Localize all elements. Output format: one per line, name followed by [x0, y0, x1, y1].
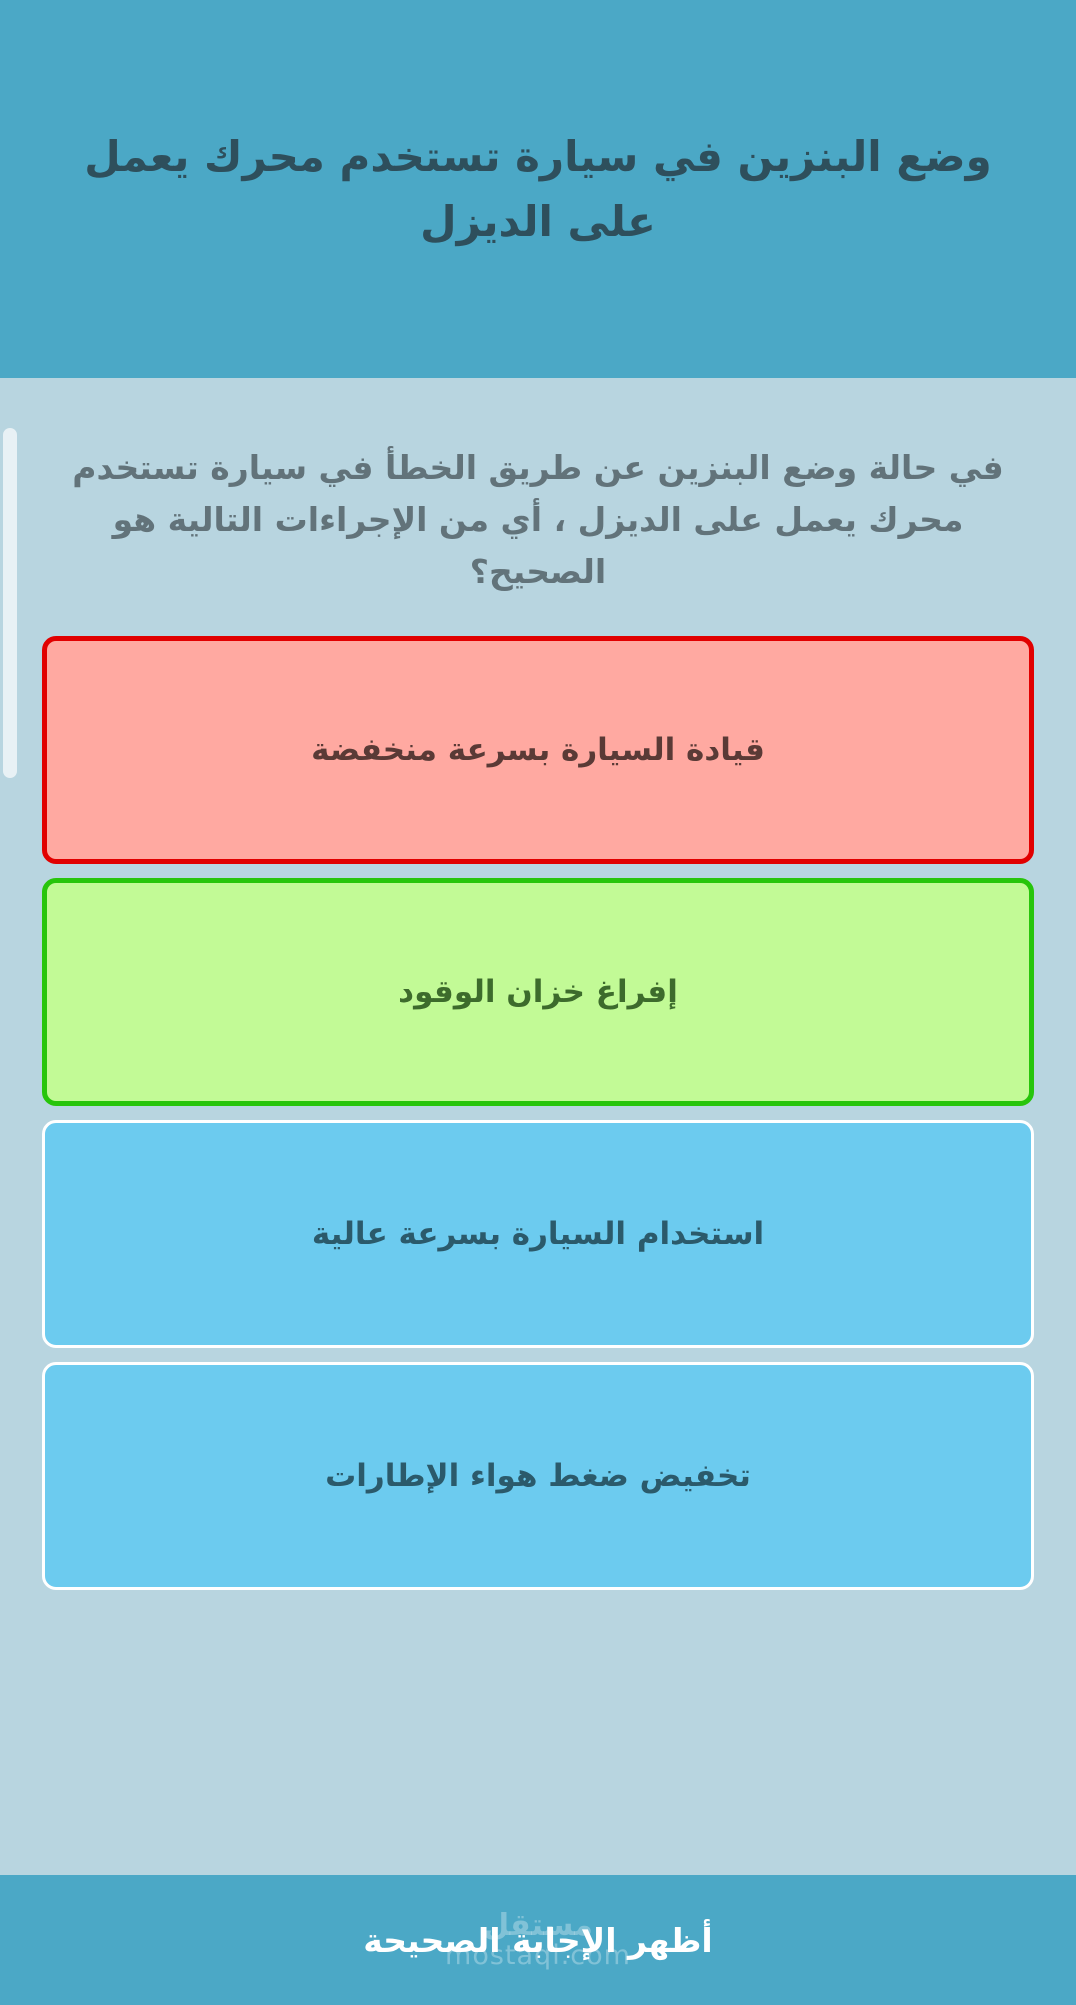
answer-option-2[interactable]: إفراغ خزان الوقود — [42, 878, 1034, 1106]
answer-option-label: قيادة السيارة بسرعة منخفضة — [311, 729, 765, 772]
app-footer: مستقل mostaql.com أظهر الإجابة الصحيحة — [0, 1875, 1076, 2005]
show-correct-answer-button[interactable]: أظهر الإجابة الصحيحة — [363, 1921, 712, 1960]
answer-option-3[interactable]: استخدام السيارة بسرعة عالية — [42, 1120, 1034, 1348]
answer-option-label: استخدام السيارة بسرعة عالية — [312, 1213, 764, 1256]
quiz-content: في حالة وضع البنزين عن طريق الخطأ في سيا… — [0, 378, 1076, 1875]
quiz-app: وضع البنزين في سيارة تستخدم محرك يعمل عل… — [0, 0, 1076, 2005]
answer-option-label: تخفيض ضغط هواء الإطارات — [325, 1455, 751, 1498]
app-header: وضع البنزين في سيارة تستخدم محرك يعمل عل… — [0, 0, 1076, 378]
question-text: في حالة وضع البنزين عن طريق الخطأ في سيا… — [42, 430, 1034, 598]
answer-options-list: قيادة السيارة بسرعة منخفضة إفراغ خزان ال… — [42, 636, 1034, 1590]
answer-option-4[interactable]: تخفيض ضغط هواء الإطارات — [42, 1362, 1034, 1590]
answer-option-label: إفراغ خزان الوقود — [398, 971, 678, 1014]
page-title: وضع البنزين في سيارة تستخدم محرك يعمل عل… — [70, 124, 1006, 254]
content-scrollbar[interactable] — [3, 428, 17, 778]
answer-option-1[interactable]: قيادة السيارة بسرعة منخفضة — [42, 636, 1034, 864]
